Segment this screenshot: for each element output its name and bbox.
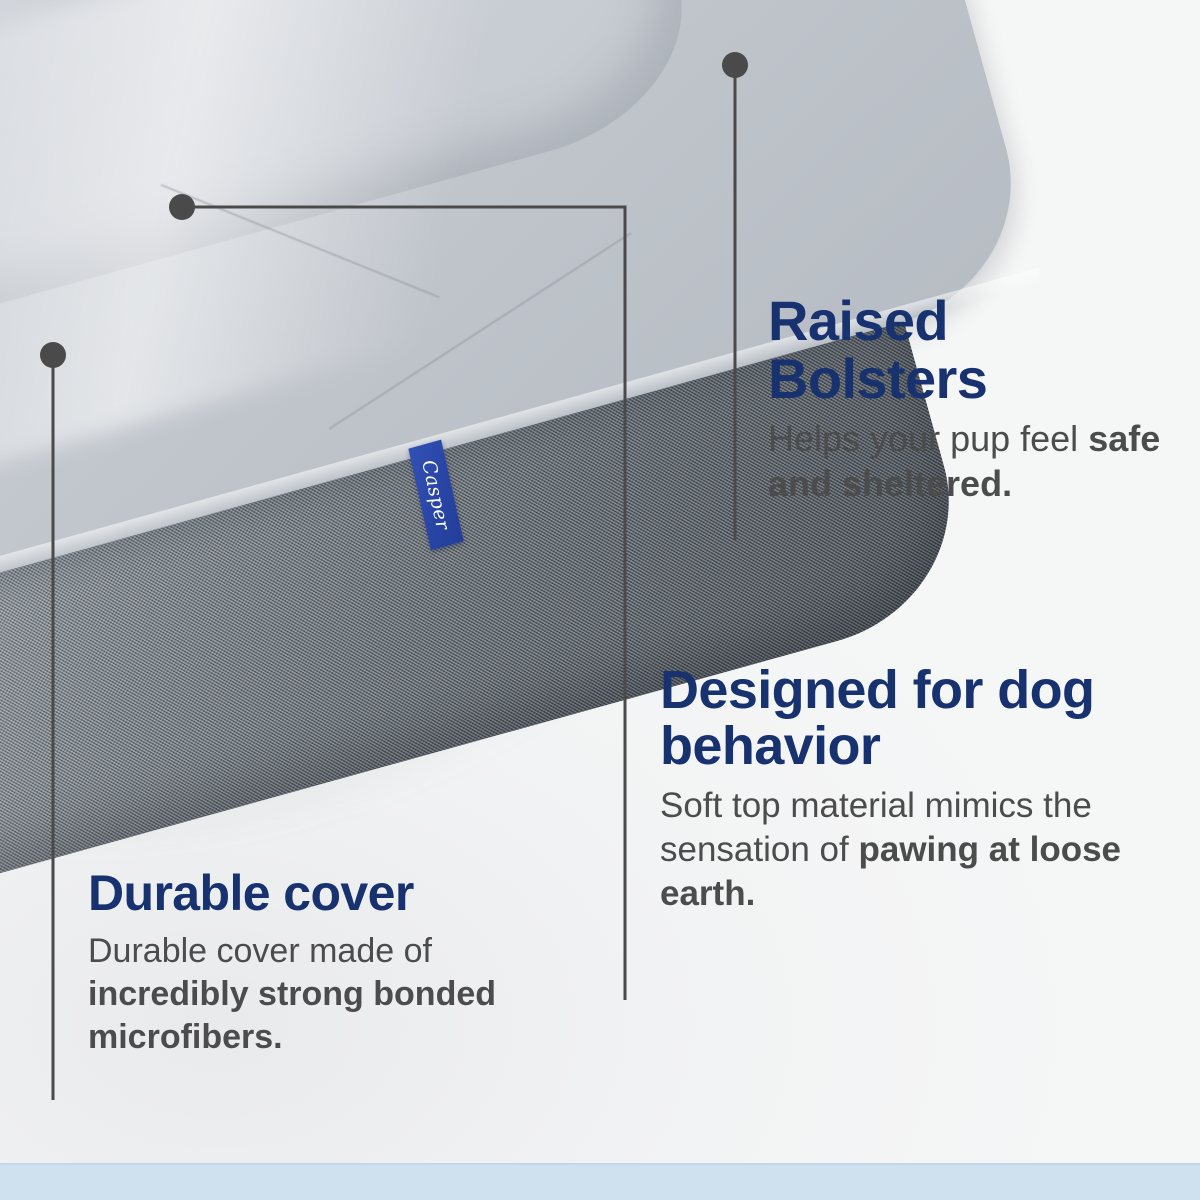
bottom-accent-band [0,1163,1200,1200]
callout-body-bold: incredibly strong bonded microfibers. [88,975,496,1056]
callout-designed-for-dog-behavior: Designed for dog behavior Soft top mater… [660,663,1168,917]
callout-raised-bolsters: Raised Bolsters Helps your pup feel safe… [768,292,1180,507]
callout-durable-cover: Durable cover Durable cover made of incr… [88,868,558,1059]
callout-body-plain: Durable cover made of [88,932,432,970]
callout-heading-raised-bolsters: Raised Bolsters [768,292,1180,407]
callout-body-dog-behavior: Soft top material mimics the sensation o… [660,784,1168,916]
callout-body-raised-bolsters: Helps your pup feel safe and sheltered. [768,417,1180,506]
callout-heading-dog-behavior: Designed for dog behavior [660,663,1168,774]
callout-heading-durable-cover: Durable cover [88,868,558,920]
callout-body-plain: Helps your pup feel [768,418,1088,459]
callout-body-durable-cover: Durable cover made of incredibly strong … [88,930,558,1060]
infographic-canvas: Casper Raised Bolsters Helps your pup fe… [0,0,1200,1200]
